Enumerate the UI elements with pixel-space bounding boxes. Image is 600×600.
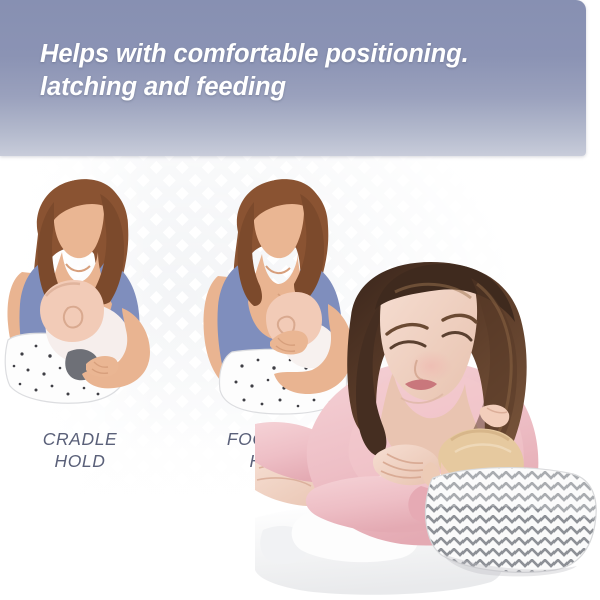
label-cradle-hold: CRADLE HOLD — [5, 428, 155, 472]
headline-banner: Helps with comfortable positioning. latc… — [0, 0, 586, 156]
illustration-cradle-hold — [2, 168, 180, 430]
product-feature-image: Helps with comfortable positioning. latc… — [0, 0, 600, 600]
headline-text: Helps with comfortable positioning. latc… — [40, 38, 570, 104]
product-photo-nursing-mother — [255, 262, 600, 600]
